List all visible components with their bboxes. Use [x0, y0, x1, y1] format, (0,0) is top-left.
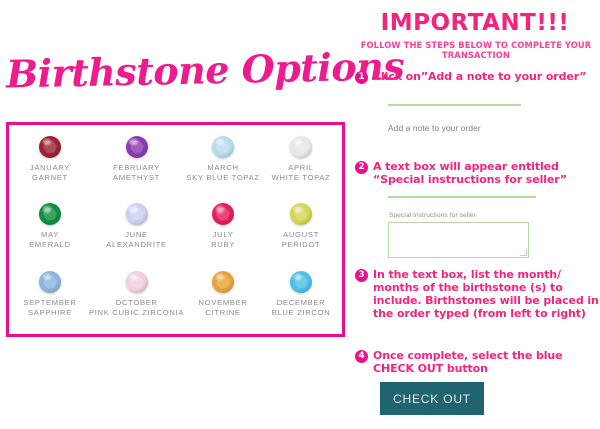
birthstone-stone-name: SKY BLUE TOPAZ: [186, 173, 259, 183]
birthstone-cell: DECEMBERBLUE ZIRCON: [262, 265, 340, 332]
gem-icon: [39, 203, 61, 225]
step-text-2: A text box will appear entitled “Special…: [373, 160, 600, 186]
step-number-badge-3: 3: [355, 269, 368, 282]
birthstone-month: FEBRUARY: [113, 163, 160, 173]
birthstone-cell: JUNEALEXANDRITE: [89, 197, 184, 264]
birthstone-panel: Birthstone Options JANUARYGARNETFEBRUARY…: [0, 0, 350, 429]
birthstone-cell: AUGUSTPERIDOT: [262, 197, 340, 264]
gem-icon: [126, 203, 148, 225]
birthstone-stone-name: PERIDOT: [282, 240, 321, 250]
step-item-4: 4 Once complete, select the blue CHECK O…: [355, 349, 595, 375]
birthstone-month: JULY: [213, 230, 234, 240]
birthstone-stone-name: RUBY: [211, 240, 235, 250]
divider-line-1: [388, 104, 521, 106]
gem-icon: [290, 136, 312, 158]
birthstone-cell: MAYEMERALD: [11, 197, 89, 264]
gem-icon: [212, 203, 234, 225]
birthstone-month: JANUARY: [30, 163, 70, 173]
birthstone-cell: SEPTEMBERSAPPHIRE: [11, 265, 89, 332]
birthstone-month: JUNE: [125, 230, 148, 240]
birthstone-cell: APRILWHITE TOPAZ: [262, 130, 340, 197]
birthstone-stone-name: AMETHYST: [113, 173, 160, 183]
birthstone-stone-name: BLUE ZIRCON: [272, 308, 331, 318]
gem-icon: [126, 271, 148, 293]
step-item-1: 1 Click on”Add a note to your order”: [355, 70, 600, 84]
birthstone-month: MARCH: [207, 163, 238, 173]
special-instructions-label: Special instructions for seller: [389, 212, 476, 219]
birthstone-stone-name: SAPPHIRE: [28, 308, 72, 318]
birthstone-stone-name: WHITE TOPAZ: [272, 173, 331, 183]
birthstone-month: OCTOBER: [115, 298, 157, 308]
birthstone-cell: OCTOBERPINK CUBIC ZIRCONIA: [89, 265, 184, 332]
birthstone-stone-name: PINK CUBIC ZIRCONIA: [89, 308, 184, 318]
gem-icon: [290, 203, 312, 225]
gem-icon: [212, 271, 234, 293]
birthstone-grid: JANUARYGARNETFEBRUARYAMETHYSTMARCHSKY BL…: [9, 125, 342, 334]
instructions-panel: IMPORTANT!!! FOLLOW THE STEPS BELOW TO C…: [350, 0, 600, 429]
birthstone-month: DECEMBER: [277, 298, 326, 308]
gem-icon: [212, 136, 234, 158]
infographic-page: Birthstone Options JANUARYGARNETFEBRUARY…: [0, 0, 600, 429]
step-item-3: 3 In the text box, list the month/ month…: [355, 268, 600, 320]
page-title: Birthstone Options: [6, 44, 347, 96]
birthstone-month: AUGUST: [283, 230, 319, 240]
step-text-3: In the text box, list the month/ months …: [373, 268, 600, 320]
gem-icon: [39, 136, 61, 158]
birthstone-stone-name: ALEXANDRITE: [106, 240, 166, 250]
birthstone-stone-name: EMERALD: [29, 240, 71, 250]
birthstone-month: NOVEMBER: [199, 298, 248, 308]
birthstone-cell: JULYRUBY: [184, 197, 262, 264]
birthstone-month: SEPTEMBER: [23, 298, 76, 308]
divider-line-2: [388, 196, 536, 198]
step-number-badge-4: 4: [355, 350, 368, 363]
birthstone-cell: JANUARYGARNET: [11, 130, 89, 197]
important-heading: IMPORTANT!!!: [350, 10, 600, 36]
birthstone-month: MAY: [41, 230, 59, 240]
step-text-1: Click on”Add a note to your order”: [373, 70, 586, 84]
step-item-2: 2 A text box will appear entitled “Speci…: [355, 160, 600, 186]
birthstone-cell: FEBRUARYAMETHYST: [89, 130, 184, 197]
birthstone-stone-name: GARNET: [32, 173, 68, 183]
birthstone-cell: NOVEMBERCITRINE: [184, 265, 262, 332]
birthstone-grid-frame: JANUARYGARNETFEBRUARYAMETHYSTMARCHSKY BL…: [6, 122, 345, 337]
step-text-4: Once complete, select the blue CHECK OUT…: [373, 349, 595, 375]
gem-icon: [290, 271, 312, 293]
add-note-link[interactable]: Add a note to your order: [388, 123, 481, 133]
instructions-subheading: FOLLOW THE STEPS BELOW TO COMPLETE YOUR …: [354, 41, 598, 61]
step-number-badge-1: 1: [355, 71, 368, 84]
gem-icon: [126, 136, 148, 158]
birthstone-month: APRIL: [288, 163, 313, 173]
step-number-badge-2: 2: [355, 161, 368, 174]
birthstone-stone-name: CITRINE: [205, 308, 240, 318]
checkout-button[interactable]: CHECK OUT: [380, 382, 484, 415]
special-instructions-input[interactable]: [388, 222, 529, 258]
gem-icon: [39, 271, 61, 293]
birthstone-cell: MARCHSKY BLUE TOPAZ: [184, 130, 262, 197]
